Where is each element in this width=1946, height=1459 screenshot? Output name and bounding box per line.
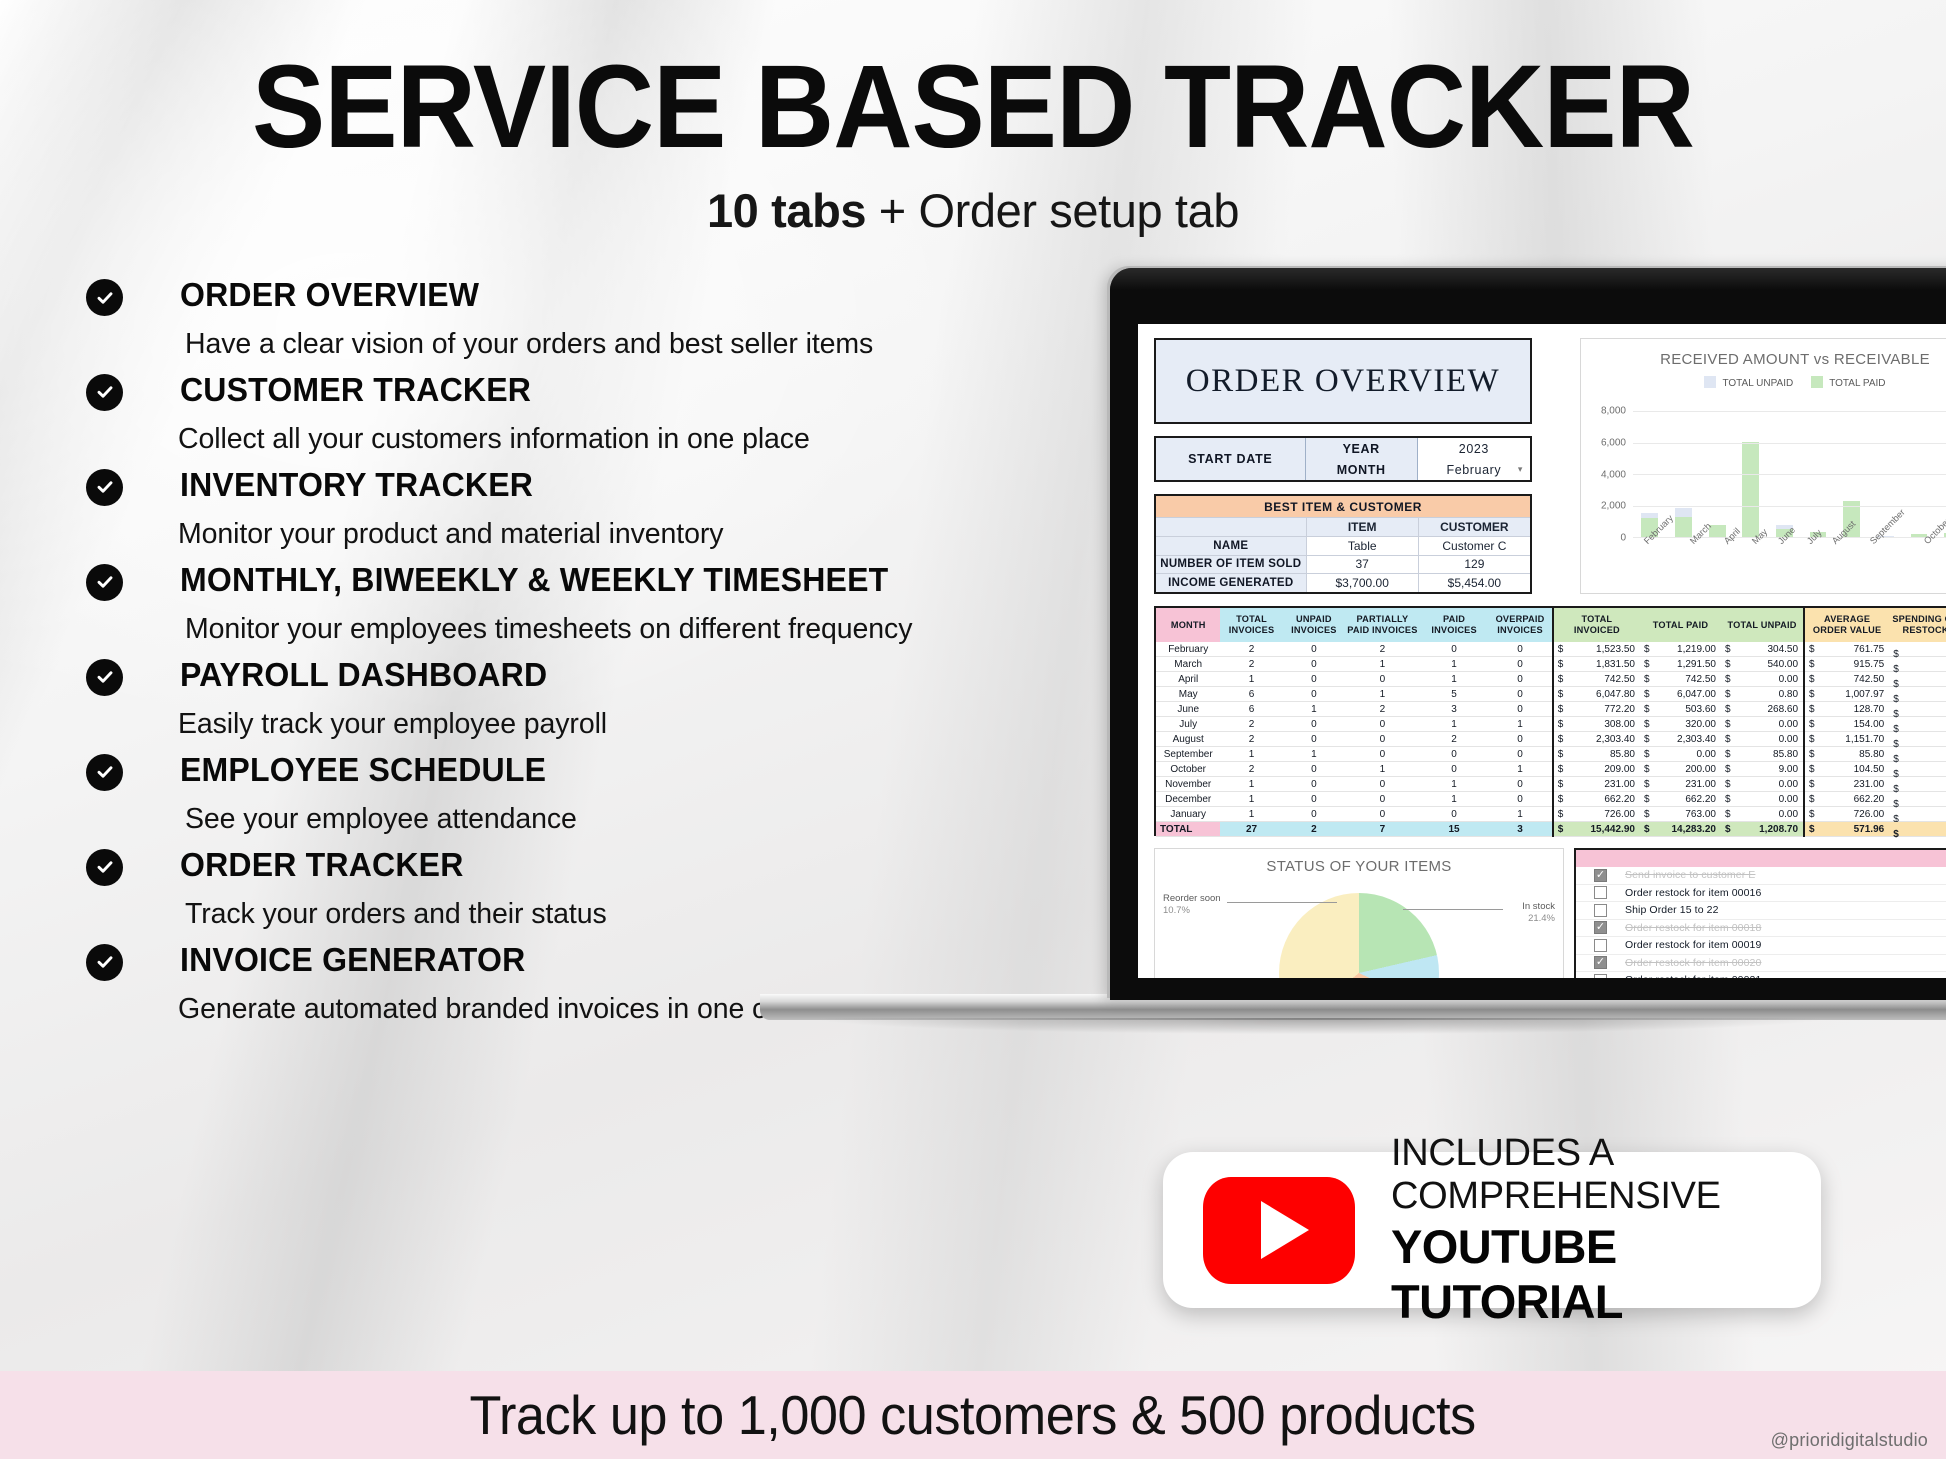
cell-month: June [1156, 702, 1220, 717]
subtitle-tab-count: 10 tabs [707, 184, 866, 237]
y-axis-tick: 6,000 [1601, 437, 1626, 448]
cell-total-unpaid: $0.00 [1721, 777, 1804, 792]
start-date-field-labels: YEAR MONTH [1306, 438, 1418, 480]
cell-total: 2 [1220, 717, 1282, 732]
cell-paid: 2 [1420, 732, 1489, 747]
best-col-customer: CUSTOMER [1418, 518, 1530, 536]
feature-item-1: ORDER OVERVIEWHave a clear vision of you… [86, 276, 1116, 361]
cell-unpaid: 0 [1283, 807, 1345, 822]
subtitle-rest: + Order setup tab [866, 184, 1239, 237]
pie-label-in-stock-value: 21.4% [1522, 913, 1555, 925]
table-row: July20011$308.00$320.00$0.00$154.00$ [1156, 717, 1946, 732]
feature-title: CUSTOMER TRACKER [180, 371, 1088, 410]
cell-spend: $ [1889, 717, 1946, 732]
check-circle-icon [86, 469, 123, 506]
youtube-badge-text: INCLUDES A COMPREHENSIVE YOUTUBE TUTORIA… [1391, 1132, 1821, 1329]
cell-total: 2 [1220, 657, 1282, 672]
checklist-row[interactable]: Order restock for item 00018 [1576, 920, 1946, 938]
best-col-item: ITEM [1306, 518, 1418, 536]
check-circle-icon [86, 659, 123, 696]
laptop-mockup: ORDER OVERVIEW START DATE YEAR MONTH 202… [1100, 268, 1946, 1058]
cell-total-paidcnt: 15 [1420, 822, 1489, 837]
legend-swatch [1704, 376, 1716, 388]
cell-over: 1 [1488, 717, 1552, 732]
page-title: SERVICE BASED TRACKER [68, 46, 1878, 170]
cell-invoiced: $726.00 [1553, 807, 1640, 822]
todo-checklist-panel: Send invoice to customer EOrder restock … [1574, 848, 1946, 978]
cell-total-paid: $200.00 [1640, 762, 1721, 777]
cell-invoiced: $1,523.50 [1553, 642, 1640, 657]
feature-title: INVENTORY TRACKER [180, 466, 1088, 505]
best-row-customer-value: 129 [1418, 556, 1530, 574]
cell-paid: 0 [1420, 642, 1489, 657]
feature-title: MONTHLY, BIWEEKLY & WEEKLY TIMESHEET [180, 561, 1088, 600]
cell-total-unpaid: $304.50 [1721, 642, 1804, 657]
feature-item-5: PAYROLL DASHBOARDEasily track your emplo… [86, 656, 1116, 741]
cell-month: April [1156, 672, 1220, 687]
check-circle-icon [86, 754, 123, 791]
feature-item-7: ORDER TRACKERTrack your orders and their… [86, 846, 1116, 931]
cell-unpaid: 0 [1283, 687, 1345, 702]
month-label: MONTH [1306, 459, 1417, 480]
cell-spend: $ [1889, 792, 1946, 807]
youtube-play-icon [1203, 1177, 1355, 1284]
start-date-label: START DATE [1156, 438, 1306, 480]
best-row-customer-value: $5,454.00 [1418, 574, 1530, 592]
checkbox-icon[interactable] [1594, 956, 1607, 969]
th-average-order-value: AVERAGEORDER VALUE [1804, 608, 1889, 642]
feature-description: Track your orders and their status [185, 898, 1116, 931]
cell-partial: 1 [1345, 687, 1420, 702]
legend-item: TOTAL UNPAID [1704, 376, 1793, 389]
cell-spend: $ [1889, 762, 1946, 777]
table-row: August20020$2,303.40$2,303.40$0.00$1,151… [1156, 732, 1946, 747]
best-row-item-value: Table [1306, 537, 1418, 555]
cell-total-unpaid: $540.00 [1721, 657, 1804, 672]
table-row: October20101$209.00$200.00$9.00$104.50$ [1156, 762, 1946, 777]
checkbox-icon[interactable] [1594, 904, 1607, 917]
checkbox-icon[interactable] [1594, 921, 1607, 934]
best-item-customer-block: BEST ITEM & CUSTOMERITEMCUSTOMERNAMETabl… [1154, 494, 1532, 594]
pie-label-reorder-soon-value: 10.7% [1163, 905, 1221, 917]
table-row: April10010$742.50$742.50$0.00$742.50$ [1156, 672, 1946, 687]
checklist-row[interactable]: Send invoice to customer E [1576, 867, 1946, 885]
cell-total-paid: $2,303.40 [1640, 732, 1721, 747]
table-row: March20110$1,831.50$1,291.50$540.00$915.… [1156, 657, 1946, 672]
cell-aov: $742.50 [1804, 672, 1889, 687]
cell-unpaid: 1 [1283, 702, 1345, 717]
cell-partial: 1 [1345, 657, 1420, 672]
pie-leader-line-instock [1403, 909, 1503, 910]
cell-aov: $1,007.97 [1804, 687, 1889, 702]
cell-paid: 1 [1420, 672, 1489, 687]
checklist-row[interactable]: Order restock for item 00019 [1576, 937, 1946, 955]
cell-over: 0 [1488, 747, 1552, 762]
cell-invoiced: $772.20 [1553, 702, 1640, 717]
cell-aov: $662.20 [1804, 792, 1889, 807]
y-axis-tick: 2,000 [1601, 501, 1626, 512]
cell-total: 2 [1220, 762, 1282, 777]
cell-total-unpaid: $0.00 [1721, 717, 1804, 732]
cell-month: November [1156, 777, 1220, 792]
cell-month: August [1156, 732, 1220, 747]
best-row: NAMETableCustomer C [1156, 536, 1530, 555]
cell-total: 2 [1220, 642, 1282, 657]
cell-month: May [1156, 687, 1220, 702]
best-row: NUMBER OF ITEM SOLD37129 [1156, 555, 1530, 574]
feature-list: ORDER OVERVIEWHave a clear vision of you… [86, 276, 1116, 1036]
laptop-lid: ORDER OVERVIEW START DATE YEAR MONTH 202… [1110, 268, 1946, 1000]
feature-item-6: EMPLOYEE SCHEDULESee your employee atten… [86, 751, 1116, 836]
cell-total-invoiced: $15,442.90 [1553, 822, 1640, 837]
cell-total: 1 [1220, 792, 1282, 807]
cell-total-paid: $6,047.00 [1640, 687, 1721, 702]
cell-aov: $915.75 [1804, 657, 1889, 672]
pie-leader-line-reorder [1227, 902, 1337, 903]
cell-total-over: 3 [1488, 822, 1552, 837]
th-paid-invoices: PAID INVOICES [1420, 608, 1489, 642]
feature-description: Monitor your product and material invent… [178, 518, 1116, 551]
youtube-tutorial-badge[interactable]: INCLUDES A COMPREHENSIVE YOUTUBE TUTORIA… [1163, 1152, 1821, 1308]
sheet-title-banner: ORDER OVERVIEW [1154, 338, 1532, 424]
best-row-label: NAME [1156, 537, 1306, 555]
cell-total-unpaid: $0.00 [1721, 732, 1804, 747]
cell-invoiced: $6,047.80 [1553, 687, 1640, 702]
cell-partial: 2 [1345, 642, 1420, 657]
pie-label-in-stock-name: In stock [1522, 901, 1555, 913]
feature-title: INVOICE GENERATOR [180, 941, 1088, 980]
table-row: November10010$231.00$231.00$0.00$231.00$ [1156, 777, 1946, 792]
cell-aov: $128.70 [1804, 702, 1889, 717]
cell-spend: $ [1889, 807, 1946, 822]
y-axis-tick: 8,000 [1601, 406, 1626, 417]
feature-title: ORDER OVERVIEW [180, 276, 1088, 315]
start-date-block: START DATE YEAR MONTH 2023 February ▾ [1154, 436, 1532, 482]
cell-paid: 1 [1420, 777, 1489, 792]
checklist-header-band [1576, 850, 1946, 867]
best-row-customer-value: Customer C [1418, 537, 1530, 555]
cell-total-paid: $662.20 [1640, 792, 1721, 807]
cell-aov: $761.75 [1804, 642, 1889, 657]
checklist-label: Ship Order 15 to 22 [1625, 904, 1719, 916]
cell-paid: 1 [1420, 792, 1489, 807]
legend-item: TOTAL PAID [1811, 376, 1885, 389]
cell-over: 0 [1488, 702, 1552, 717]
checklist-label: Order restock for item 00019 [1625, 939, 1761, 951]
feature-description: Collect all your customers information i… [178, 423, 1116, 456]
cell-over: 0 [1488, 687, 1552, 702]
cell-month: March [1156, 657, 1220, 672]
cell-spend: $ [1889, 687, 1946, 702]
cell-paid: 0 [1420, 807, 1489, 822]
cell-invoiced: $662.20 [1553, 792, 1640, 807]
pie-chart-title: STATUS OF YOUR ITEMS [1155, 858, 1563, 875]
cell-total-unpaidamt: $1,208.70 [1721, 822, 1804, 837]
th-total-invoiced: TOTALINVOICED [1553, 608, 1640, 642]
cell-total-paid: $503.60 [1640, 702, 1721, 717]
cell-spend: $ [1889, 702, 1946, 717]
checklist-label: Order restock for item 00018 [1625, 922, 1761, 934]
th-overpaid-invoices: OVERPAIDINVOICES [1488, 608, 1552, 642]
cell-partial: 0 [1345, 807, 1420, 822]
cell-aov: $104.50 [1804, 762, 1889, 777]
best-corner-cell [1156, 518, 1306, 536]
y-axis-tick: 0 [1620, 533, 1626, 544]
cell-month: December [1156, 792, 1220, 807]
cell-unpaid: 0 [1283, 642, 1345, 657]
cell-unpaid: 0 [1283, 672, 1345, 687]
cell-over: 0 [1488, 657, 1552, 672]
cell-total-paid: $320.00 [1640, 717, 1721, 732]
checkbox-icon[interactable] [1594, 939, 1607, 952]
cell-month: October [1156, 762, 1220, 777]
best-row-label: NUMBER OF ITEM SOLD [1156, 556, 1306, 574]
th-month: MONTH [1156, 608, 1220, 642]
cell-paid: 0 [1420, 747, 1489, 762]
youtube-badge-line2: YOUTUBE TUTORIAL [1391, 1219, 1821, 1329]
cell-invoiced: $2,303.40 [1553, 732, 1640, 747]
month-dropdown[interactable]: February ▾ [1418, 459, 1530, 480]
bar-segment-paid [1742, 442, 1759, 537]
cell-total-paid: $1,219.00 [1640, 642, 1721, 657]
cell-month: July [1156, 717, 1220, 732]
pie-label-reorder-soon: Reorder soon 10.7% [1163, 893, 1221, 917]
cell-unpaid: 0 [1283, 792, 1345, 807]
cell-total-paid: $1,291.50 [1640, 657, 1721, 672]
spreadsheet: ORDER OVERVIEW START DATE YEAR MONTH 202… [1138, 324, 1946, 978]
cell-total-unpaid: $268.60 [1721, 702, 1804, 717]
received-vs-receivable-chart: RECEIVED AMOUNT vs RECEIVABLE TOTAL UNPA… [1580, 338, 1946, 594]
checklist-label: Order restock for item 00016 [1625, 887, 1761, 899]
th-total-paid: TOTAL PAID [1640, 608, 1721, 642]
cell-unpaid: 0 [1283, 657, 1345, 672]
cell-unpaid: 0 [1283, 717, 1345, 732]
checklist-rows: Send invoice to customer EOrder restock … [1576, 867, 1946, 978]
cell-paid: 5 [1420, 687, 1489, 702]
cell-total-unpaid: $0.00 [1721, 792, 1804, 807]
table-row: September11000$85.80$0.00$85.80$85.80$ [1156, 747, 1946, 762]
cell-total: 6 [1220, 687, 1282, 702]
legend-swatch [1811, 376, 1823, 388]
cell-total-paid: $231.00 [1640, 777, 1721, 792]
cell-spend: $ [1889, 777, 1946, 792]
cell-partial: 1 [1345, 762, 1420, 777]
cell-month: February [1156, 642, 1220, 657]
th-total-unpaid: TOTAL UNPAID [1721, 608, 1804, 642]
table-row: June61230$772.20$503.60$268.60$128.70$ [1156, 702, 1946, 717]
cell-invoiced: $742.50 [1553, 672, 1640, 687]
cell-paid: 1 [1420, 717, 1489, 732]
gridline: 4,000 [1633, 474, 1946, 475]
table-row: December10010$662.20$662.20$0.00$662.20$ [1156, 792, 1946, 807]
pie-label-reorder-soon-name: Reorder soon [1163, 893, 1221, 905]
checkbox-icon[interactable] [1594, 869, 1607, 882]
cell-total-unpaid: $0.00 [1721, 807, 1804, 822]
cell-partial: 0 [1345, 717, 1420, 732]
th-partially-paid-invoices: PARTIALLYPAID INVOICES [1345, 608, 1420, 642]
pie-chart-graphic [1279, 893, 1439, 978]
checklist-label: Send invoice to customer E [1625, 869, 1755, 881]
bottom-banner: Track up to 1,000 customers & 500 produc… [0, 1371, 1946, 1459]
check-circle-icon [86, 849, 123, 886]
cell-invoiced: $1,831.50 [1553, 657, 1640, 672]
cell-total: 6 [1220, 702, 1282, 717]
cell-aov: $726.00 [1804, 807, 1889, 822]
check-circle-icon [86, 944, 123, 981]
table-row: January10001$726.00$763.00$0.00$726.00$ [1156, 807, 1946, 822]
cell-partial: 0 [1345, 747, 1420, 762]
cell-total: 1 [1220, 807, 1282, 822]
cell-paid: 1 [1420, 657, 1489, 672]
checklist-row[interactable]: Order restock for item 00021 [1576, 972, 1946, 978]
th-spending-on-restock: SPENDING ONRESTOCK [1889, 608, 1946, 642]
cell-paid: 3 [1420, 702, 1489, 717]
cell-aov: $154.00 [1804, 717, 1889, 732]
cell-total-paid: $0.00 [1640, 747, 1721, 762]
bar-chart-title: RECEIVED AMOUNT vs RECEIVABLE [1581, 351, 1946, 368]
cell-spend: $ [1889, 732, 1946, 747]
th-unpaid-invoices: UNPAIDINVOICES [1283, 608, 1345, 642]
feature-description: Have a clear vision of your orders and b… [185, 328, 1116, 361]
cell-partial: 0 [1345, 672, 1420, 687]
cell-invoiced: $231.00 [1553, 777, 1640, 792]
cell-aov: $1,151.70 [1804, 732, 1889, 747]
cell-partial: 0 [1345, 777, 1420, 792]
cell-total-unpaid: $0.00 [1721, 672, 1804, 687]
checklist-row[interactable]: Order restock for item 00016 [1576, 885, 1946, 903]
checkbox-icon[interactable] [1594, 886, 1607, 899]
bar-segment-paid [1675, 517, 1692, 537]
cell-invoiced: $308.00 [1553, 717, 1640, 732]
cell-partial: 0 [1345, 792, 1420, 807]
chevron-down-icon: ▾ [1518, 464, 1523, 475]
cell-unpaid: 0 [1283, 762, 1345, 777]
feature-description: Easily track your employee payroll [178, 708, 1116, 741]
cell-total-unpaid: $0.80 [1721, 687, 1804, 702]
table-row: February20200$1,523.50$1,219.00$304.50$7… [1156, 642, 1946, 657]
cell-month: January [1156, 807, 1220, 822]
cell-spend: $ [1889, 672, 1946, 687]
best-row-item-value: 37 [1306, 556, 1418, 574]
cell-total: 1 [1220, 777, 1282, 792]
checkbox-icon[interactable] [1594, 974, 1607, 978]
cell-spend: $ [1889, 642, 1946, 657]
cell-invoiced: $85.80 [1553, 747, 1640, 762]
month-value: February [1446, 463, 1501, 477]
feature-title: ORDER TRACKER [180, 846, 1088, 885]
youtube-badge-line1: INCLUDES A COMPREHENSIVE [1391, 1132, 1821, 1218]
cell-over: 0 [1488, 732, 1552, 747]
feature-title: PAYROLL DASHBOARD [180, 656, 1088, 695]
cell-spend: $ [1889, 657, 1946, 672]
cell-total-label: TOTAL [1156, 822, 1220, 837]
best-row-item-value: $3,700.00 [1306, 574, 1418, 592]
pie-label-in-stock: In stock 21.4% [1522, 901, 1555, 925]
feature-item-4: MONTHLY, BIWEEKLY & WEEKLY TIMESHEETMoni… [86, 561, 1116, 646]
bar-segment-unpaid [1675, 508, 1692, 517]
monthly-summary-table: MONTHTOTALINVOICESUNPAIDINVOICESPARTIALL… [1154, 606, 1946, 836]
cell-partial: 2 [1345, 702, 1420, 717]
bottom-banner-text: Track up to 1,000 customers & 500 produc… [470, 1383, 1476, 1447]
start-date-field-values: 2023 February ▾ [1418, 438, 1530, 480]
table-row: May60150$6,047.80$6,047.00$0.80$1,007.97… [1156, 687, 1946, 702]
bar-chart-x-labels: FebruaryMarchAprilMayJuneJulyAugustSepte… [1633, 539, 1946, 549]
cell-aov: $231.00 [1804, 777, 1889, 792]
year-value[interactable]: 2023 [1418, 438, 1530, 459]
cell-aov: $85.80 [1804, 747, 1889, 762]
feature-item-3: INVENTORY TRACKERMonitor your product an… [86, 466, 1116, 551]
cell-total-total: 27 [1220, 822, 1282, 837]
best-header: BEST ITEM & CUSTOMER [1156, 496, 1530, 517]
check-circle-icon [86, 374, 123, 411]
cell-invoiced: $209.00 [1553, 762, 1640, 777]
table-total-row: TOTAL2727153$15,442.90$14,283.20$1,208.7… [1156, 822, 1946, 837]
feature-description: See your employee attendance [185, 803, 1116, 836]
feature-description: Monitor your employees timesheets on dif… [185, 613, 1116, 646]
checklist-label: Order restock for item 00021 [1625, 974, 1761, 978]
check-circle-icon [86, 564, 123, 601]
cell-total-unpaid: $9.00 [1721, 762, 1804, 777]
cell-unpaid: 0 [1283, 732, 1345, 747]
cell-paid: 0 [1420, 762, 1489, 777]
gridline: 6,000 [1633, 443, 1946, 444]
watermark: @prioridigitalstudio [1771, 1430, 1928, 1451]
cell-total-unpaidcnt: 2 [1283, 822, 1345, 837]
cell-total-partial: 7 [1345, 822, 1420, 837]
best-row: INCOME GENERATED$3,700.00$5,454.00 [1156, 573, 1530, 592]
check-circle-icon [86, 279, 123, 316]
cell-over: 0 [1488, 777, 1552, 792]
y-axis-tick: 4,000 [1601, 469, 1626, 480]
cell-total-unpaid: $85.80 [1721, 747, 1804, 762]
best-row-label: INCOME GENERATED [1156, 574, 1306, 592]
cell-unpaid: 1 [1283, 747, 1345, 762]
cell-total: 1 [1220, 672, 1282, 687]
checklist-row[interactable]: Ship Order 15 to 22 [1576, 902, 1946, 920]
cell-over: 0 [1488, 642, 1552, 657]
cell-spend: $ [1889, 747, 1946, 762]
cell-total-paidamt: $14,283.20 [1640, 822, 1721, 837]
feature-item-2: CUSTOMER TRACKERCollect all your custome… [86, 371, 1116, 456]
status-of-items-chart: STATUS OF YOUR ITEMS Reorder soon 10.7% … [1154, 848, 1564, 978]
cell-over: 0 [1488, 672, 1552, 687]
cell-over: 0 [1488, 792, 1552, 807]
cell-partial: 0 [1345, 732, 1420, 747]
cell-month: September [1156, 747, 1220, 762]
checklist-row[interactable]: Order restock for item 00020 [1576, 955, 1946, 973]
year-label: YEAR [1306, 438, 1417, 459]
cell-over: 1 [1488, 807, 1552, 822]
cell-unpaid: 0 [1283, 777, 1345, 792]
cell-total: 2 [1220, 732, 1282, 747]
laptop-screen: ORDER OVERVIEW START DATE YEAR MONTH 202… [1138, 324, 1946, 978]
gridline: 8,000 [1633, 411, 1946, 412]
page-subtitle: 10 tabs + Order setup tab [0, 183, 1946, 238]
cell-over: 1 [1488, 762, 1552, 777]
cell-total-spend: $ [1889, 822, 1946, 837]
th-total-invoices: TOTALINVOICES [1220, 608, 1282, 642]
cell-total: 1 [1220, 747, 1282, 762]
best-col-header-row: ITEMCUSTOMER [1156, 517, 1530, 536]
cell-total-paid: $763.00 [1640, 807, 1721, 822]
checklist-label: Order restock for item 00020 [1625, 957, 1761, 969]
feature-title: EMPLOYEE SCHEDULE [180, 751, 1088, 790]
bar-chart-legend: TOTAL UNPAIDTOTAL PAID [1581, 376, 1946, 389]
cell-total-paid: $742.50 [1640, 672, 1721, 687]
cell-total-aov: $571.96 [1804, 822, 1889, 837]
